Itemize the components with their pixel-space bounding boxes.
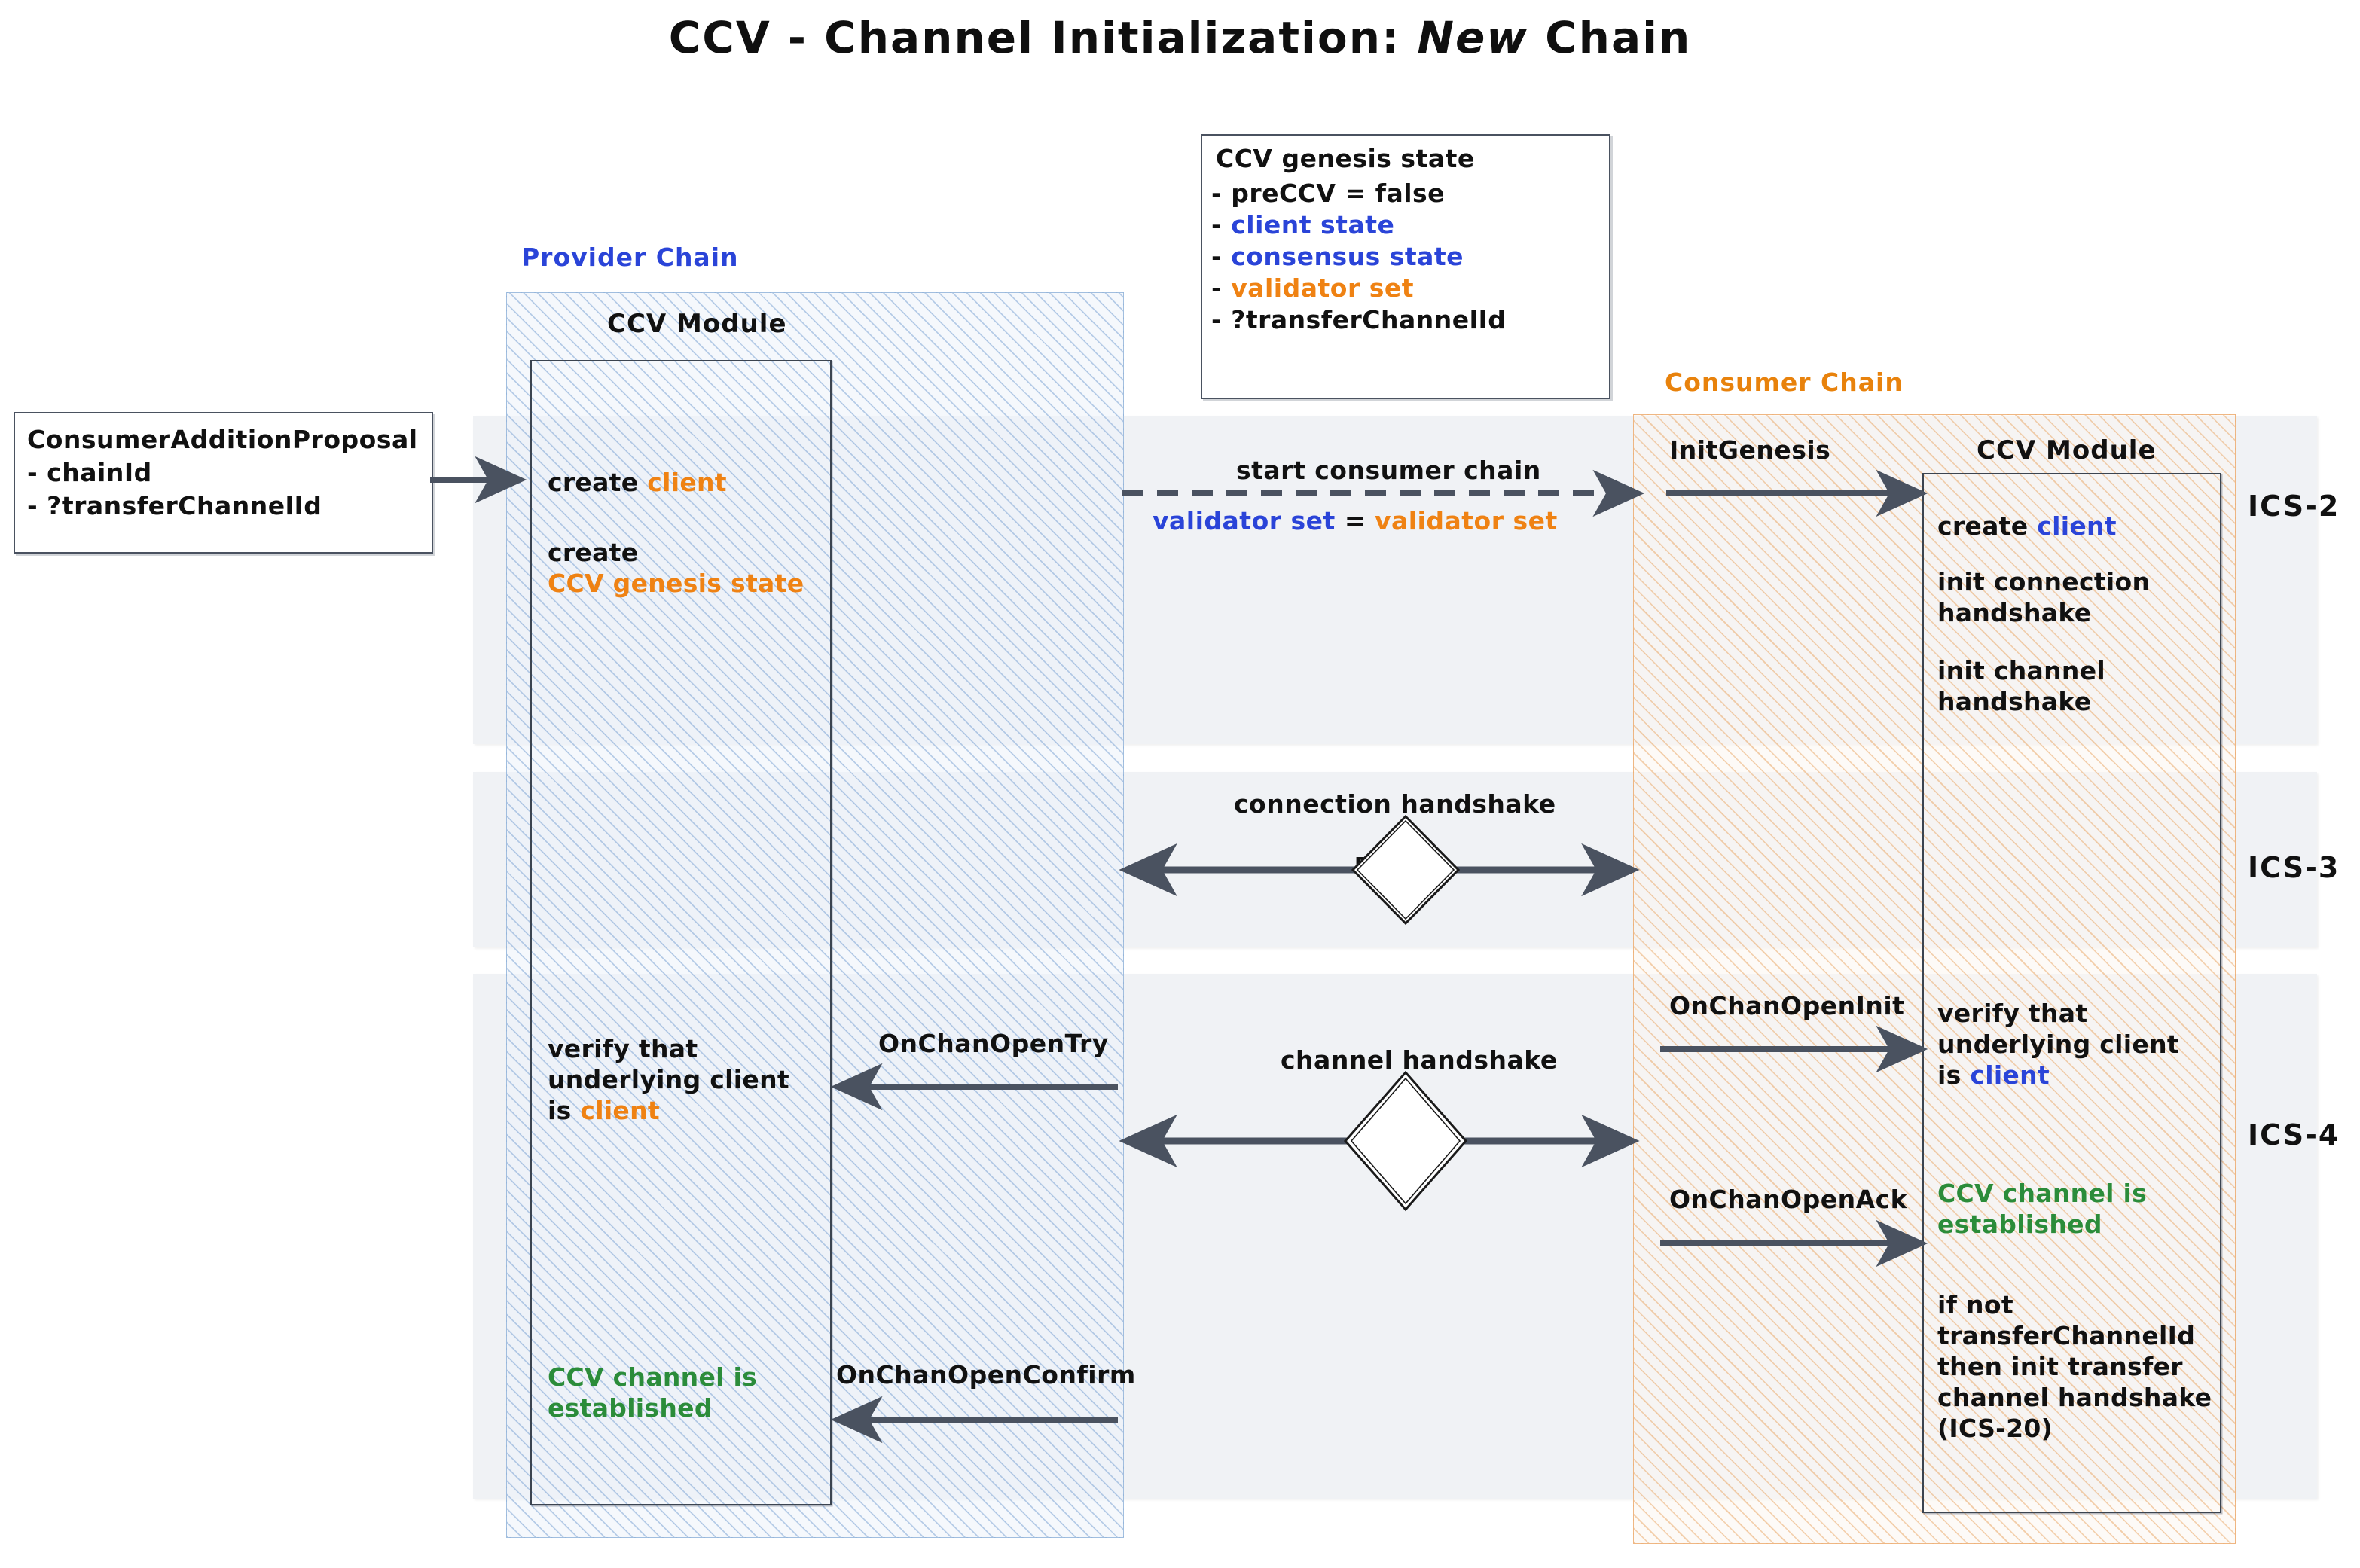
genesis-text-4: ?transferChannelId: [1231, 305, 1506, 334]
consumer-step-verify-client: verify that underlying client is client: [1937, 998, 2218, 1091]
consumer-verify-line-3-accent: client: [1970, 1060, 2050, 1090]
consumer-module-title: CCV Module: [1977, 435, 2157, 465]
genesis-item-consensus-state: - consensus state: [1211, 241, 1506, 273]
relayer-label-channel: Relayer: [1354, 1122, 1447, 1147]
genesis-text-1: client state: [1231, 210, 1394, 239]
consumer-ifnot-line-3: then init transfer: [1937, 1351, 2222, 1382]
provider-create-client-prefix: create: [548, 468, 647, 497]
genesis-dash-3: -: [1211, 273, 1222, 303]
genesis-item-client-state: - client state: [1211, 209, 1506, 241]
consumer-verify-line-3: is client: [1937, 1060, 2218, 1091]
consumer-step-init-connection: init connection handshake: [1937, 566, 2218, 628]
consumer-ifnot-line-2: transferChannelId: [1937, 1320, 2222, 1351]
band-label-ics-4: ICS-4: [2248, 1118, 2340, 1152]
provider-chain-label: Provider Chain: [521, 243, 739, 272]
validator-set-left: validator set: [1153, 506, 1336, 535]
on-chan-open-try-label: OnChanOpenTry: [878, 1029, 1109, 1058]
on-chan-open-confirm-label: OnChanOpenConfirm: [836, 1360, 1136, 1390]
consumer-ifnot-line-1: if not: [1937, 1289, 2222, 1320]
consumer-step-init-channel: init channel handshake: [1937, 655, 2218, 717]
proposal-item-transfer-channel-id: - ?transferChannelId: [27, 490, 322, 522]
genesis-text-2: consensus state: [1231, 242, 1464, 271]
consumer-verify-line-1: verify that: [1937, 998, 2218, 1029]
ccv-genesis-state-box: CCV genesis state - preCCV = false - cli…: [1201, 134, 1610, 399]
provider-verify-line-3-prefix: is: [548, 1096, 580, 1125]
consumer-verify-line-3-prefix: is: [1937, 1060, 1970, 1090]
channel-handshake-label: channel handshake: [1281, 1045, 1558, 1075]
provider-create-label: create: [548, 537, 826, 568]
consumer-verify-line-2: underlying client: [1937, 1029, 2218, 1060]
band-label-ics-3: ICS-3: [2248, 851, 2340, 884]
provider-verify-line-3-accent: client: [580, 1096, 660, 1125]
consumer-init-conn-line-1: init connection: [1937, 566, 2218, 597]
start-consumer-chain-label: start consumer chain: [1236, 456, 1541, 485]
genesis-item-preccv: - preCCV = false: [1211, 178, 1506, 209]
consumer-init-genesis-label: InitGenesis: [1669, 435, 1830, 465]
validator-set-equality-label: validator set = validator set: [1153, 506, 1558, 535]
provider-verify-line-3: is client: [548, 1095, 826, 1126]
consumer-established-line-2: established: [1937, 1209, 2218, 1240]
genesis-dash-2: -: [1211, 242, 1222, 271]
genesis-text-3: validator set: [1231, 273, 1414, 303]
proposal-title: ConsumerAdditionProposal: [27, 424, 418, 456]
page-title-prefix: CCV - Channel Initialization:: [669, 12, 1418, 63]
provider-create-client-accent: client: [647, 468, 727, 497]
consumer-ifnot-line-4: channel handshake: [1937, 1382, 2222, 1413]
provider-step-create-genesis: create CCV genesis state: [548, 537, 826, 599]
consumer-addition-proposal-box: ConsumerAdditionProposal - chainId - ?tr…: [14, 412, 433, 554]
consumer-step-channel-established: CCV channel is established: [1937, 1178, 2218, 1240]
genesis-text-0: preCCV = false: [1231, 178, 1445, 208]
genesis-dash-0: -: [1211, 178, 1222, 208]
provider-module-title: CCV Module: [607, 309, 787, 339]
page-title: CCV - Channel Initialization: New Chain: [0, 12, 2360, 63]
genesis-title: CCV genesis state: [1216, 143, 1475, 175]
proposal-item-chain-id: - chainId: [27, 457, 152, 489]
consumer-init-chan-line-1: init channel: [1937, 655, 2218, 686]
provider-step-channel-established: CCV channel is established: [548, 1362, 826, 1423]
on-chan-open-init-label: OnChanOpenInit: [1669, 991, 1904, 1020]
provider-verify-line-2: underlying client: [548, 1064, 826, 1095]
provider-established-line-1: CCV channel is: [548, 1362, 826, 1393]
provider-step-create-client: create client: [548, 467, 819, 498]
provider-established-line-2: established: [548, 1393, 826, 1423]
genesis-item-transfer-channel-id: - ?transferChannelId: [1211, 304, 1506, 336]
page-title-emphasis: New: [1417, 12, 1528, 63]
consumer-step-create-client: create client: [1937, 511, 2209, 541]
consumer-create-client-accent: client: [2037, 511, 2117, 541]
validator-set-right: validator set: [1375, 506, 1558, 535]
page-title-suffix: Chain: [1528, 12, 1691, 63]
genesis-dash-4: -: [1211, 305, 1222, 334]
connection-handshake-label: connection handshake: [1234, 789, 1556, 819]
relayer-label-connection: Relayer: [1354, 853, 1447, 877]
genesis-item-validator-set: - validator set: [1211, 273, 1506, 304]
genesis-dash-1: -: [1211, 210, 1222, 239]
validator-set-equals-sign: =: [1345, 506, 1366, 535]
diagram-canvas: CCV - Channel Initialization: New Chain …: [0, 0, 2360, 1568]
consumer-ifnot-line-5: (ICS-20): [1937, 1413, 2222, 1444]
consumer-init-conn-line-2: handshake: [1937, 597, 2218, 628]
provider-verify-line-1: verify that: [548, 1033, 826, 1064]
consumer-create-client-prefix: create: [1937, 511, 2037, 541]
provider-create-genesis-accent: CCV genesis state: [548, 568, 826, 599]
consumer-step-if-not-transfer-channel: if not transferChannelId then init trans…: [1937, 1289, 2222, 1444]
on-chan-open-ack-label: OnChanOpenAck: [1669, 1185, 1907, 1214]
provider-step-verify-client: verify that underlying client is client: [548, 1033, 826, 1126]
provider-ccv-module-box: [530, 360, 832, 1505]
consumer-chain-label: Consumer Chain: [1665, 368, 1904, 397]
consumer-established-line-1: CCV channel is: [1937, 1178, 2218, 1209]
band-label-ics-2: ICS-2: [2248, 490, 2340, 523]
consumer-init-chan-line-2: handshake: [1937, 686, 2218, 717]
